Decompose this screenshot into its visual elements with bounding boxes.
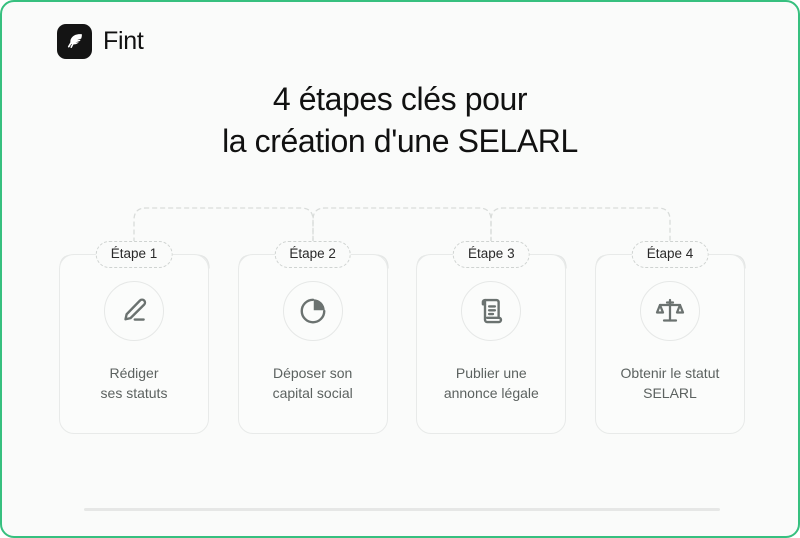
- step-label-1: Rédiger ses statuts: [95, 363, 174, 404]
- step-badge-4: Étape 4: [632, 241, 709, 268]
- step-label-4: Obtenir le statut SELARL: [615, 363, 726, 404]
- step-card-1[interactable]: Étape 1 Rédiger ses statuts: [59, 254, 209, 434]
- bottom-divider: [84, 508, 720, 511]
- scales-balance-icon: [640, 281, 700, 341]
- scroll-document-icon: [461, 281, 521, 341]
- step-label-1-line-1: Rédiger: [101, 363, 168, 383]
- step-badge-3: Étape 3: [453, 241, 530, 268]
- step-badge-1: Étape 1: [96, 241, 173, 268]
- step-card-4[interactable]: Étape 4 Obtenir le statut SELARL: [595, 254, 745, 434]
- step-label-3-line-2: annonce légale: [444, 383, 539, 403]
- feather-quill-icon: [57, 24, 92, 59]
- step-card-3[interactable]: Étape 3 Publier une annonce légale: [416, 254, 566, 434]
- title-line-2: la création d'une SELARL: [2, 120, 798, 162]
- step-badge-2: Étape 2: [274, 241, 351, 268]
- pie-chart-icon: [283, 281, 343, 341]
- step-label-2: Déposer son capital social: [267, 363, 359, 404]
- step-label-4-line-1: Obtenir le statut: [621, 363, 720, 383]
- infographic-page: Fint 4 étapes clés pour la création d'un…: [0, 0, 800, 538]
- title-line-1: 4 étapes clés pour: [2, 78, 798, 120]
- step-label-4-line-2: SELARL: [621, 383, 720, 403]
- brand-name: Fint: [103, 29, 143, 54]
- pencil-edit-icon: [104, 281, 164, 341]
- page-title: 4 étapes clés pour la création d'une SEL…: [2, 78, 798, 162]
- step-label-1-line-2: ses statuts: [101, 383, 168, 403]
- step-label-2-line-1: Déposer son: [273, 363, 353, 383]
- step-card-2[interactable]: Étape 2 Déposer son capital social: [238, 254, 388, 434]
- step-label-2-line-2: capital social: [273, 383, 353, 403]
- step-label-3: Publier une annonce légale: [438, 363, 545, 404]
- step-label-3-line-1: Publier une: [444, 363, 539, 383]
- steps-row: Étape 1 Rédiger ses statuts Étape 2: [59, 254, 745, 434]
- brand-logo: Fint: [57, 24, 143, 59]
